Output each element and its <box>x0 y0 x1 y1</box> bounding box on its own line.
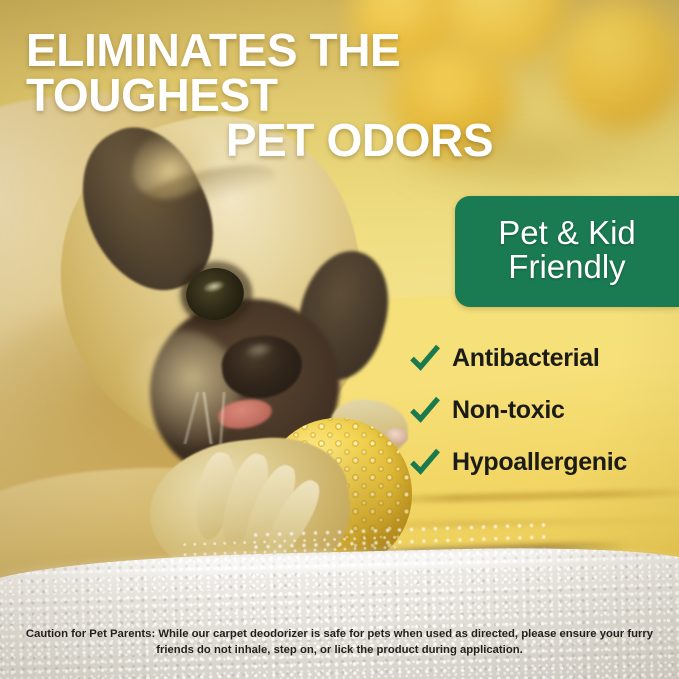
feature-label: Antibacterial <box>452 344 600 373</box>
badge-label: Pet & Kid Friendly <box>498 216 636 283</box>
product-marketing-image: ELIMINATES THE TOUGHEST PET ODORS Pet & … <box>0 0 679 679</box>
check-icon <box>408 341 442 375</box>
feature-label: Non-toxic <box>452 396 565 425</box>
headline-line-1: ELIMINATES THE TOUGHEST <box>26 28 653 118</box>
dog-whiskers <box>150 392 270 444</box>
feature-item-antibacterial: Antibacterial <box>408 332 679 384</box>
caution-text: Caution for Pet Parents: While our carpe… <box>0 626 679 659</box>
feature-item-hypoallergenic: Hypoallergenic <box>408 436 679 488</box>
feature-item-non-toxic: Non-toxic <box>408 384 679 436</box>
pet-kid-friendly-badge: Pet & Kid Friendly <box>455 196 679 307</box>
feature-list: Antibacterial Non-toxic Hypoallergenic <box>408 332 679 488</box>
headline: ELIMINATES THE TOUGHEST PET ODORS <box>0 28 679 163</box>
check-icon <box>408 393 442 427</box>
feature-label: Hypoallergenic <box>452 448 627 477</box>
check-icon <box>408 445 442 479</box>
headline-line-2: PET ODORS <box>26 118 653 163</box>
